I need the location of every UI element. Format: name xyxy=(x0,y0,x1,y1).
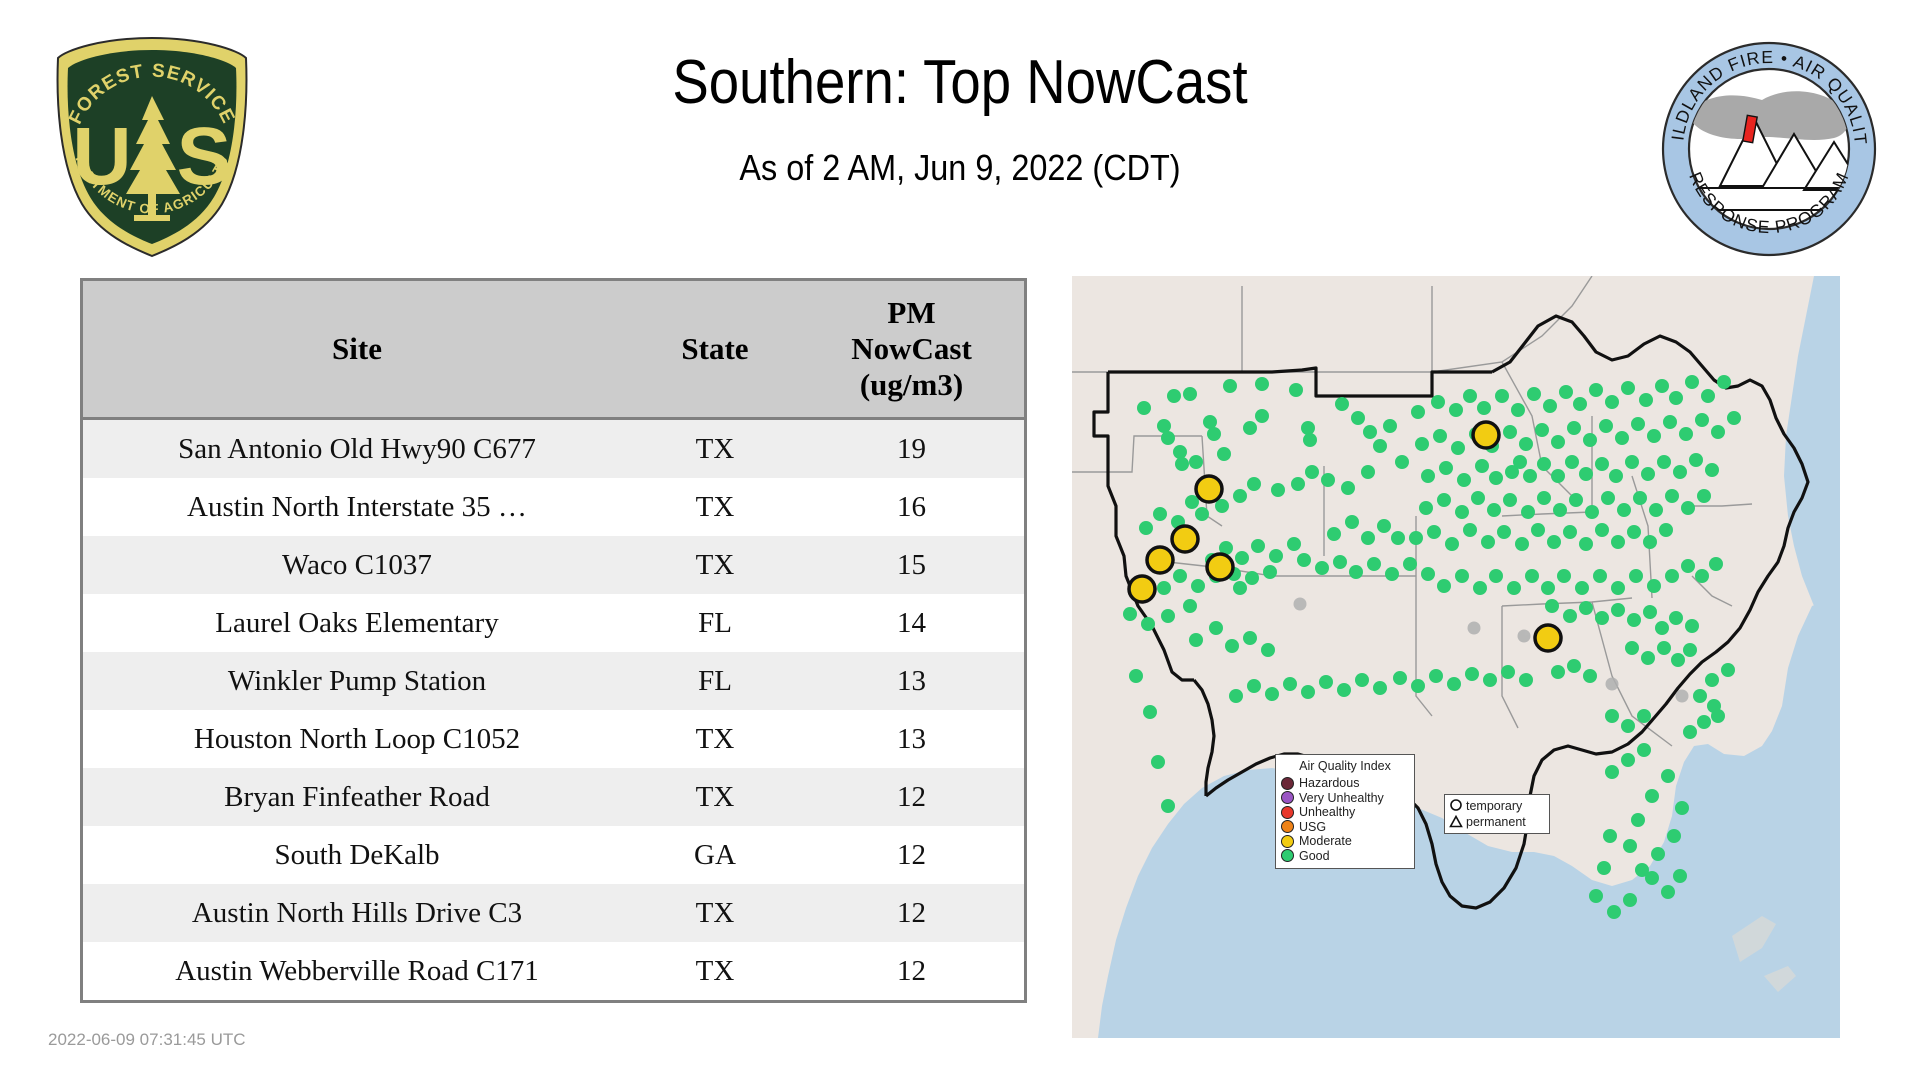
pm-header-line2: NowCast xyxy=(803,331,1020,367)
aqi-legend-item: Hazardous xyxy=(1281,776,1409,791)
page-subtitle: As of 2 AM, Jun 9, 2022 (CDT) xyxy=(366,146,1554,190)
cell-site: San Antonio Old Hwy90 C677 xyxy=(82,419,632,479)
pm-header-line3: (ug/m3) xyxy=(803,367,1020,403)
cell-state: GA xyxy=(631,826,799,884)
nowcast-table: Site State PM NowCast (ug/m3) San Antoni… xyxy=(80,278,1027,1003)
temporary-circle-icon xyxy=(1449,799,1463,813)
table-header-row: Site State PM NowCast (ug/m3) xyxy=(82,280,1026,419)
cell-state: TX xyxy=(631,768,799,826)
fs-letter-u: U xyxy=(72,111,131,202)
marker-legend-row-permanent: permanent xyxy=(1449,814,1545,830)
smoke-plume xyxy=(1688,91,1848,140)
monitor-marker-moderate[interactable] xyxy=(1147,547,1173,573)
table-row[interactable]: Austin Webberville Road C171TX12 xyxy=(82,942,1026,1002)
cell-state: TX xyxy=(631,419,799,479)
permanent-triangle-icon xyxy=(1449,815,1463,829)
aqi-legend-title: Air Quality Index xyxy=(1281,759,1409,773)
table-row[interactable]: Austin North Hills Drive C3TX12 xyxy=(82,884,1026,942)
page-header: FOREST SERVICE DEPARTMENT OF AGRICULTURE… xyxy=(0,0,1920,270)
aqi-legend-label: Moderate xyxy=(1299,834,1352,848)
cell-site: Austin North Hills Drive C3 xyxy=(82,884,632,942)
table-body: San Antonio Old Hwy90 C677TX19Austin Nor… xyxy=(82,419,1026,1002)
cell-pm-nowcast: 15 xyxy=(799,536,1026,594)
cell-state: TX xyxy=(631,884,799,942)
cell-state: FL xyxy=(631,594,799,652)
aqi-legend-swatch xyxy=(1281,835,1294,848)
aqi-legend-label: Very Unhealthy xyxy=(1299,791,1384,805)
cell-pm-nowcast: 14 xyxy=(799,594,1026,652)
aqi-legend-item: Unhealthy xyxy=(1281,805,1409,820)
cell-pm-nowcast: 13 xyxy=(799,652,1026,710)
aqi-legend-swatch xyxy=(1281,806,1294,819)
cell-site: Laurel Oaks Elementary xyxy=(82,594,632,652)
aqi-legend-label: Good xyxy=(1299,849,1330,863)
monitor-marker-moderate[interactable] xyxy=(1129,576,1155,602)
aqi-legend-rows: HazardousVery UnhealthyUnhealthyUSGModer… xyxy=(1281,776,1409,863)
pm-header-line1: PM xyxy=(803,295,1020,331)
aqi-legend-swatch xyxy=(1281,791,1294,804)
cell-site: Waco C1037 xyxy=(82,536,632,594)
cell-site: Winkler Pump Station xyxy=(82,652,632,710)
cell-pm-nowcast: 12 xyxy=(799,884,1026,942)
column-header-site[interactable]: Site xyxy=(82,280,632,419)
monitor-marker-moderate[interactable] xyxy=(1535,625,1561,651)
cell-site: Bryan Finfeather Road xyxy=(82,768,632,826)
aqi-legend-label: USG xyxy=(1299,820,1326,834)
marker-type-legend: temporary permanent xyxy=(1444,794,1550,834)
cell-site: Austin North Interstate 35 … xyxy=(82,478,632,536)
air-quality-map[interactable]: Air Quality Index HazardousVery Unhealth… xyxy=(1072,276,1840,1038)
column-header-state[interactable]: State xyxy=(631,280,799,419)
cell-state: TX xyxy=(631,942,799,1002)
cell-state: TX xyxy=(631,710,799,768)
us-forest-service-logo: FOREST SERVICE DEPARTMENT OF AGRICULTURE… xyxy=(52,34,252,260)
nowcast-table-panel: Site State PM NowCast (ug/m3) San Antoni… xyxy=(80,278,1000,1003)
aqi-legend-item: Moderate xyxy=(1281,834,1409,849)
table-row[interactable]: Houston North Loop C1052TX13 xyxy=(82,710,1026,768)
aqi-legend-swatch xyxy=(1281,777,1294,790)
aqi-legend-label: Hazardous xyxy=(1299,776,1359,790)
marker-legend-label-temporary: temporary xyxy=(1466,799,1522,813)
monitor-marker-moderate[interactable] xyxy=(1172,526,1198,552)
marker-legend-row-temporary: temporary xyxy=(1449,798,1545,814)
marker-legend-label-permanent: permanent xyxy=(1466,815,1526,829)
cell-pm-nowcast: 12 xyxy=(799,826,1026,884)
cell-pm-nowcast: 12 xyxy=(799,942,1026,1002)
monitor-marker-moderate[interactable] xyxy=(1207,554,1233,580)
page-title: Southern: Top NowCast xyxy=(379,46,1541,120)
aqi-legend: Air Quality Index HazardousVery Unhealth… xyxy=(1275,754,1415,869)
table-row[interactable]: Bryan Finfeather RoadTX12 xyxy=(82,768,1026,826)
monitor-marker-moderate[interactable] xyxy=(1196,476,1222,502)
wfaqrp-logo: WILDLAND FIRE • AIR QUALITY RESPONSE PRO… xyxy=(1658,38,1880,260)
fs-letter-s: S xyxy=(177,111,232,202)
cell-pm-nowcast: 19 xyxy=(799,419,1026,479)
map-canvas xyxy=(1072,276,1840,1038)
aqi-legend-item: Good xyxy=(1281,849,1409,864)
table-row[interactable]: Laurel Oaks ElementaryFL14 xyxy=(82,594,1026,652)
column-header-pm-nowcast[interactable]: PM NowCast (ug/m3) xyxy=(799,280,1026,419)
aqi-legend-item: Very Unhealthy xyxy=(1281,791,1409,806)
cell-site: South DeKalb xyxy=(82,826,632,884)
cell-site: Austin Webberville Road C171 xyxy=(82,942,632,1002)
cell-pm-nowcast: 16 xyxy=(799,478,1026,536)
table-header: Site State PM NowCast (ug/m3) xyxy=(82,280,1026,419)
aqi-legend-item: USG xyxy=(1281,820,1409,835)
aqi-legend-swatch xyxy=(1281,849,1294,862)
cell-state: FL xyxy=(631,652,799,710)
table-row[interactable]: Austin North Interstate 35 …TX16 xyxy=(82,478,1026,536)
monitor-marker-moderate[interactable] xyxy=(1473,422,1499,448)
cell-state: TX xyxy=(631,536,799,594)
cell-site: Houston North Loop C1052 xyxy=(82,710,632,768)
aqi-legend-label: Unhealthy xyxy=(1299,805,1355,819)
aqi-legend-swatch xyxy=(1281,820,1294,833)
table-row[interactable]: Waco C1037TX15 xyxy=(82,536,1026,594)
title-block: Southern: Top NowCast As of 2 AM, Jun 9,… xyxy=(300,46,1620,190)
table-row[interactable]: Winkler Pump StationFL13 xyxy=(82,652,1026,710)
cell-pm-nowcast: 12 xyxy=(799,768,1026,826)
table-row[interactable]: San Antonio Old Hwy90 C677TX19 xyxy=(82,419,1026,479)
table-row[interactable]: South DeKalbGA12 xyxy=(82,826,1026,884)
render-timestamp: 2022-06-09 07:31:45 UTC xyxy=(48,1030,246,1050)
cell-state: TX xyxy=(631,478,799,536)
cell-pm-nowcast: 13 xyxy=(799,710,1026,768)
